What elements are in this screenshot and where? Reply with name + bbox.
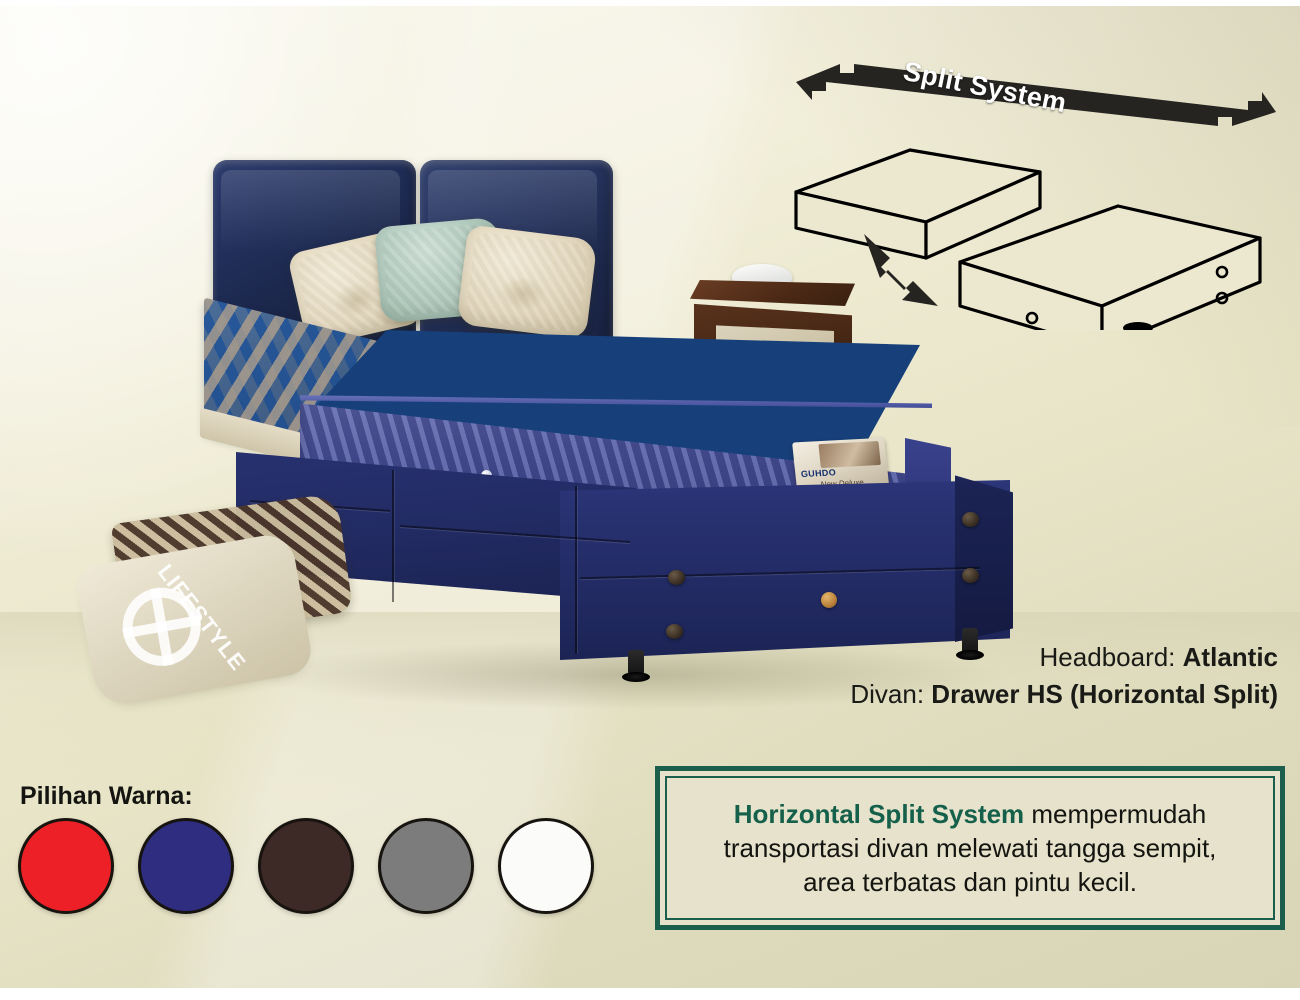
info-line3: area terbatas dan pintu kecil. (803, 867, 1137, 897)
bed-leg-right (962, 628, 978, 656)
color-swatch-white[interactable] (498, 818, 594, 914)
divan-caption-value: Drawer HS (Horizontal Split) (931, 679, 1278, 709)
info-line1-rest: mempermudah (1024, 799, 1206, 829)
drawer-seam-1 (392, 470, 394, 602)
color-swatch-gray[interactable] (378, 818, 474, 914)
mattress-label-image (818, 441, 881, 468)
color-options-title: Pilihan Warna: (20, 782, 193, 811)
info-line2: transportasi divan melewati tangga sempi… (724, 833, 1217, 863)
drawer-knob-1 (668, 570, 685, 585)
divan-side-right (955, 472, 1013, 642)
drawer-knob-3 (962, 512, 979, 527)
drawer-knob-4 (962, 568, 979, 583)
drawer-knob-2 (666, 624, 683, 639)
info-box-inner-border: Horizontal Split System mempermudah tran… (665, 776, 1275, 920)
pillow-cream-right (456, 224, 597, 339)
color-swatch-red[interactable] (18, 818, 114, 914)
divan-drawer-front-right (560, 480, 1010, 660)
info-highlight: Horizontal Split System (734, 799, 1024, 829)
bottom-white-strip (0, 988, 1300, 1000)
color-swatch-list (18, 818, 594, 914)
brand-name: GUHDO (800, 467, 836, 479)
bed-leg-front (628, 650, 644, 678)
color-swatch-navy-blue[interactable] (138, 818, 234, 914)
divan-caption: Divan: Drawer HS (Horizontal Split) (850, 678, 1278, 711)
headboard-caption-value: Atlantic (1183, 642, 1278, 672)
headboard-caption: Headboard: Atlantic (1040, 641, 1278, 674)
color-swatch-dark-brown[interactable] (258, 818, 354, 914)
info-box: Horizontal Split System mempermudah tran… (655, 766, 1285, 930)
drawer-seam-2 (575, 486, 577, 654)
divan-caption-label: Divan: (850, 679, 924, 709)
nightstand-top (690, 280, 855, 306)
headboard-caption-label: Headboard: (1040, 642, 1176, 672)
lifestyle-cushion: LIFESTYLE (82, 539, 306, 701)
info-box-text: Horizontal Split System mempermudah tran… (710, 797, 1231, 900)
advertisement-canvas: Split System (0, 0, 1300, 1000)
divan-brand-badge (821, 592, 837, 608)
